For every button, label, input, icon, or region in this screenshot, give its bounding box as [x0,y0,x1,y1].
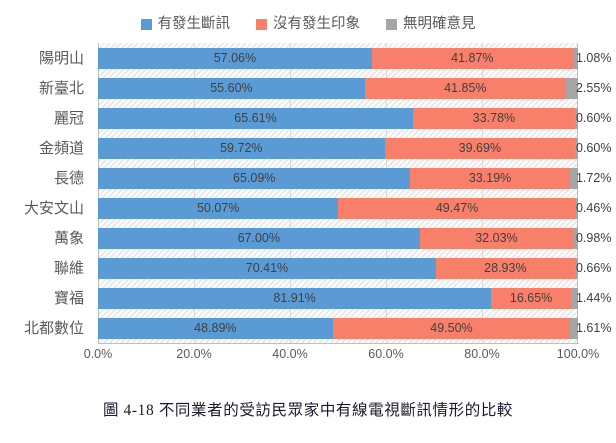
bar-segment-1[interactable]: 55.60% [98,78,365,99]
plot-area: 57.06%41.87%1.08%55.60%41.85%2.55%65.61%… [98,43,578,343]
x-tick-label-5: 80.0% [464,346,499,362]
x-tick-label-1: 0.0% [84,346,113,362]
bar-row: 65.61%33.78%0.60% [98,108,578,129]
bar-segment-2[interactable]: 41.87% [372,48,573,69]
bar-value-label: 55.60% [210,82,252,95]
bar-row: 65.09%33.19%1.72% [98,168,578,189]
bar-segment-2[interactable]: 33.78% [413,108,575,129]
bar-row: 67.00%32.03%0.98% [98,228,578,249]
bar-value-label: 0.98% [576,232,613,245]
y-axis-label-6: 大安文山 [24,198,84,219]
bar-value-label: 65.61% [234,112,276,125]
x-tick-label-4: 60.0% [368,346,403,362]
bar-value-label: 33.19% [469,172,511,185]
bar-segment-1[interactable]: 65.61% [98,108,413,129]
y-axis-label-8: 聯維 [54,258,84,279]
y-axis-label-10: 北都數位 [24,318,84,339]
bar-segment-3[interactable]: 0.60% [575,138,578,159]
bar-value-label: 1.08% [576,52,613,65]
bar-value-label: 0.60% [576,142,613,155]
bar-segment-1[interactable]: 48.89% [98,318,333,339]
bar-segment-3[interactable]: 0.46% [576,198,578,219]
x-tick-label-6: 100.0% [557,346,599,362]
y-axis-label-5: 長德 [54,168,84,189]
bar-segment-2[interactable]: 32.03% [420,228,574,249]
bar-value-label: 1.72% [576,172,613,185]
y-axis-label-2: 新臺北 [39,78,84,99]
y-axis-label-4: 金頻道 [39,138,84,159]
bar-segment-3[interactable]: 1.44% [571,288,578,309]
bar-value-label: 49.50% [430,322,472,335]
legend-entry-3[interactable]: 無明確意見 [386,17,476,32]
bar-row: 55.60%41.85%2.55% [98,78,578,99]
bar-value-label: 50.07% [197,202,239,215]
bar-segment-1[interactable]: 57.06% [98,48,372,69]
bar-segment-3[interactable]: 0.60% [575,108,578,129]
bar-segment-2[interactable]: 49.50% [333,318,571,339]
bar-segment-2[interactable]: 49.47% [338,198,575,219]
x-tick-label-2: 20.0% [176,346,211,362]
bar-segment-1[interactable]: 59.72% [98,138,385,159]
bar-value-label: 33.78% [473,112,515,125]
bar-rows: 57.06%41.87%1.08%55.60%41.85%2.55%65.61%… [98,43,578,343]
x-tick-label-3: 40.0% [272,346,307,362]
bar-row: 81.91%16.65%1.44% [98,288,578,309]
bar-segment-3[interactable]: 1.08% [573,48,578,69]
bar-value-label: 41.85% [444,82,486,95]
y-axis-label-1: 陽明山 [39,48,84,69]
bar-value-label: 2.55% [576,82,613,95]
x-axis-tick-labels: 0.0%20.0%40.0%60.0%80.0%100.0% [0,346,616,366]
bar-row: 59.72%39.69%0.60% [98,138,578,159]
bar-value-label: 39.69% [459,142,501,155]
bar-segment-2[interactable]: 28.93% [436,258,575,279]
bar-value-label: 0.60% [576,112,613,125]
bar-value-label: 0.66% [576,262,613,275]
bar-segment-2[interactable]: 33.19% [410,168,569,189]
bar-segment-1[interactable]: 67.00% [98,228,420,249]
bar-segment-3[interactable]: 0.66% [575,258,578,279]
bar-row: 70.41%28.93%0.66% [98,258,578,279]
bar-value-label: 1.61% [576,322,613,335]
legend-entry-2[interactable]: 沒有發生印象 [256,17,360,32]
bar-value-label: 28.93% [484,262,526,275]
bar-segment-3[interactable]: 0.98% [573,228,578,249]
bar-value-label: 41.87% [451,52,493,65]
chart-figure: 有發生斷訊沒有發生印象無明確意見 陽明山新臺北麗冠金頻道長德大安文山萬象聯維寶福… [0,0,616,386]
bar-segment-1[interactable]: 81.91% [98,288,491,309]
bar-segment-3[interactable]: 1.72% [570,168,578,189]
bar-segment-1[interactable]: 65.09% [98,168,410,189]
y-axis-label-9: 寶福 [54,288,84,309]
bar-row: 50.07%49.47%0.46% [98,198,578,219]
bar-segment-1[interactable]: 70.41% [98,258,436,279]
y-axis-label-7: 萬象 [54,228,84,249]
chart-legend: 有發生斷訊沒有發生印象無明確意見 [0,13,616,35]
bar-value-label: 67.00% [238,232,280,245]
legend-label: 無明確意見 [403,17,476,32]
figure-caption: 圖 4-18 不同業者的受訪民眾家中有線電視斷訊情形的比較 [0,398,616,420]
bar-segment-2[interactable]: 39.69% [385,138,576,159]
bar-value-label: 49.47% [436,202,478,215]
plot-wrapper: 陽明山新臺北麗冠金頻道長德大安文山萬象聯維寶福北都數位 57.06%41.87%… [0,43,616,386]
bar-value-label: 1.44% [576,292,613,305]
bar-value-label: 70.41% [246,262,288,275]
bar-value-label: 65.09% [233,172,275,185]
bar-value-label: 0.46% [576,202,613,215]
y-axis-labels: 陽明山新臺北麗冠金頻道長德大安文山萬象聯維寶福北都數位 [0,43,92,343]
bar-value-label: 59.72% [220,142,262,155]
bar-value-label: 81.91% [273,292,315,305]
bar-value-label: 48.89% [194,322,236,335]
legend-swatch-gray [386,19,397,30]
bar-row: 48.89%49.50%1.61% [98,318,578,339]
bar-value-label: 16.65% [510,292,552,305]
legend-swatch-blue [141,19,152,30]
bar-value-label: 32.03% [475,232,517,245]
legend-label: 有發生斷訊 [158,17,231,32]
bar-segment-2[interactable]: 16.65% [491,288,571,309]
bar-row: 57.06%41.87%1.08% [98,48,578,69]
bar-segment-1[interactable]: 50.07% [98,198,338,219]
bar-value-label: 57.06% [214,52,256,65]
bar-segment-2[interactable]: 41.85% [365,78,566,99]
x-axis-line [98,343,579,344]
y-axis-label-3: 麗冠 [54,108,84,129]
bar-segment-3[interactable]: 2.55% [566,78,578,99]
bar-segment-3[interactable]: 1.61% [570,318,578,339]
legend-entry-1[interactable]: 有發生斷訊 [141,17,231,32]
legend-label: 沒有發生印象 [273,17,360,32]
legend-swatch-orange [256,19,267,30]
